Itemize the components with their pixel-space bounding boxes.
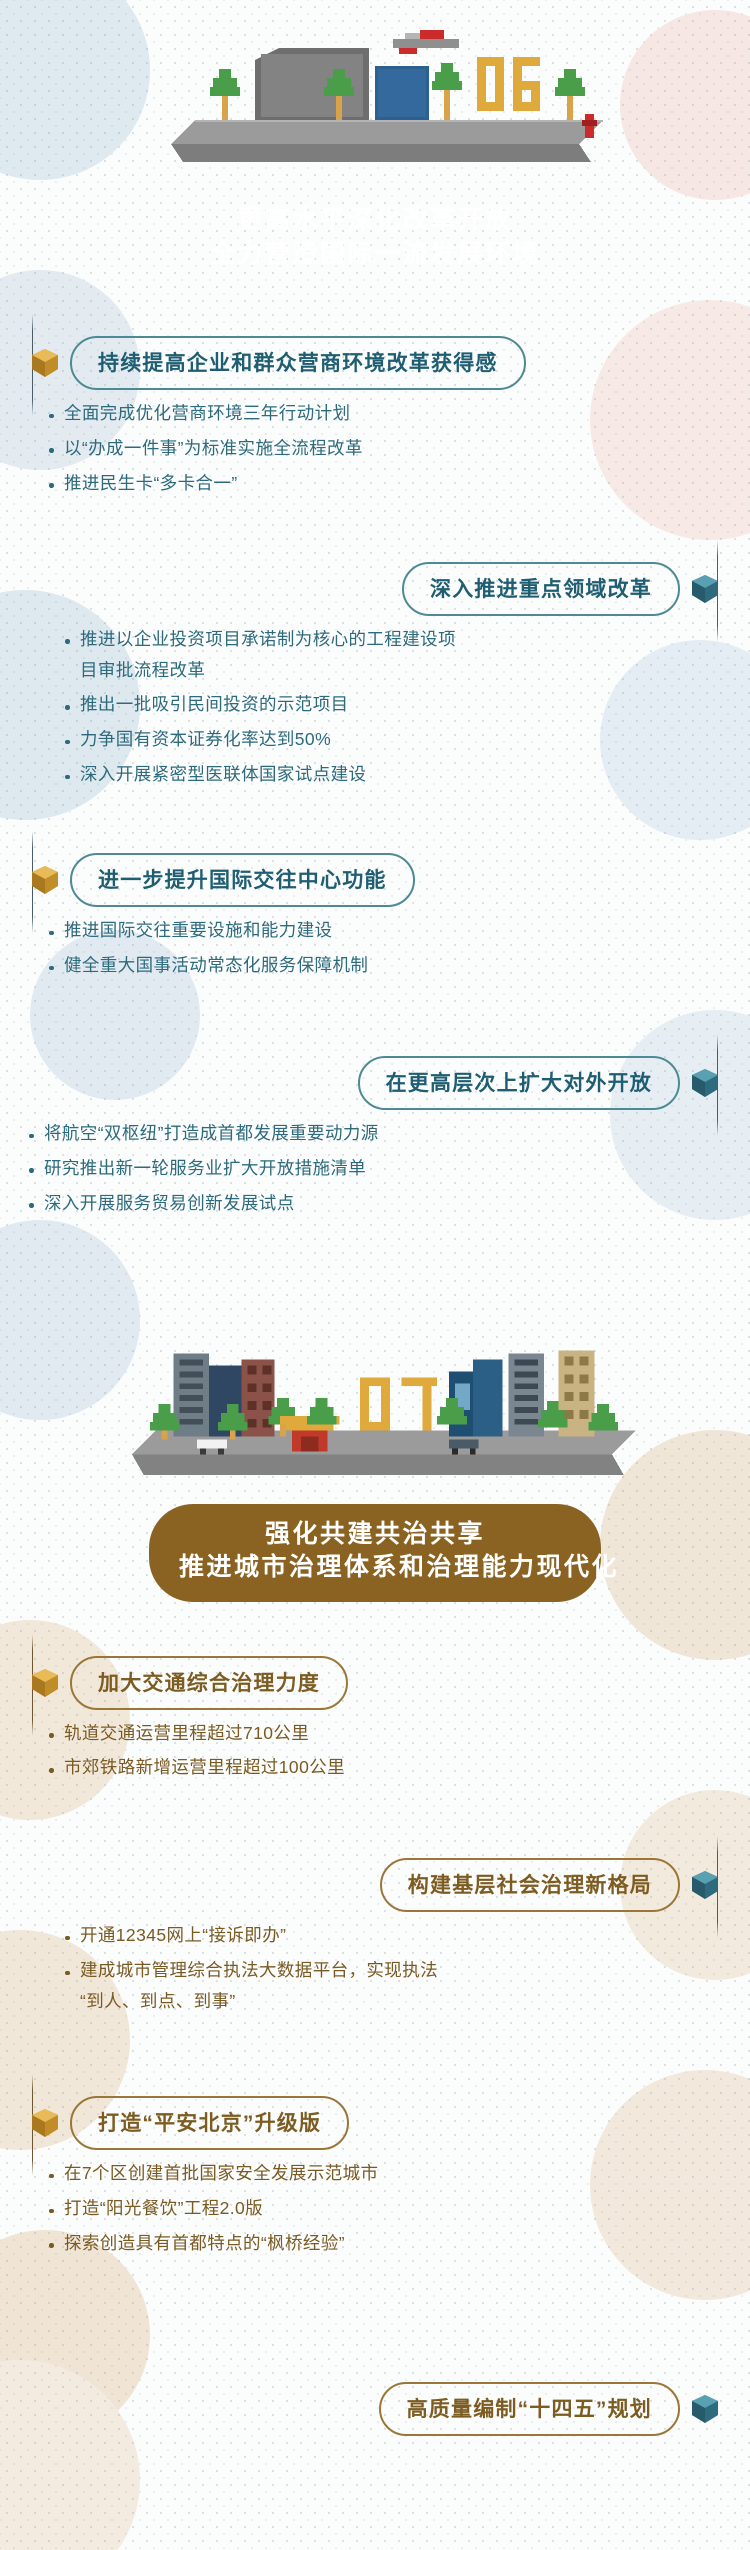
bullet-item-continuation: 目审批流程改革	[64, 658, 710, 684]
chapter-number-06	[477, 57, 540, 111]
teal-cube-icon	[690, 1067, 720, 1099]
bullet-item: 建成城市管理综合执法大数据平台，实现执法	[64, 1958, 710, 1984]
teal-cube-icon	[690, 1869, 720, 1901]
section-06-4-bullets: 将航空“双枢纽”打造成首都发展重要动力源 研究推出新一轮服务业扩大开放措施清单 …	[0, 1110, 750, 1217]
bullet-item: 打造“阳光餐饮”工程2.0版	[48, 2196, 710, 2222]
section-06-3-title[interactable]: 进一步提升国际交往中心功能	[70, 853, 415, 907]
section-06-2-title[interactable]: 深入推进重点领域改革	[402, 562, 680, 616]
section-07-4: 高质量编制“十四五”规划	[0, 2382, 750, 2436]
section-06-4-title[interactable]: 在更高层次上扩大对外开放	[358, 1056, 680, 1110]
section-07-1: 加大交通综合治理力度 轨道交通运营里程超过710公里 市郊铁路新增运营里程超过1…	[0, 1656, 750, 1817]
section-06-3: 进一步提升国际交往中心功能 推进国际交往重要设施和能力建设 健全重大国事活动常态…	[0, 853, 750, 1014]
section-06-1-title[interactable]: 持续提高企业和群众营商环境改革获得感	[70, 336, 526, 390]
bullet-item: 探索创造具有首都特点的“枫桥经验”	[48, 2231, 710, 2257]
section-07-4-title-row: 高质量编制“十四五”规划	[0, 2382, 750, 2436]
bullet-item: 在7个区创建首批国家安全发展示范城市	[48, 2161, 710, 2187]
chapter-07-pixel-art-header	[0, 1324, 750, 1504]
bullet-item: 推进民生卡“多卡合一”	[48, 471, 710, 497]
section-06-3-bullets: 推进国际交往重要设施和能力建设 健全重大国事活动常态化服务保障机制	[0, 907, 750, 979]
rail-line	[717, 540, 718, 642]
chapter-07-banner-line1: 强化共建共治共享	[179, 1518, 571, 1552]
section-06-2: 深入推进重点领域改革 推进以企业投资项目承诺制为核心的工程建设项 目审批流程改革…	[0, 562, 750, 823]
bullet-item: 将航空“双枢纽”打造成首都发展重要动力源	[28, 1121, 710, 1147]
bullet-item: 推进国际交往重要设施和能力建设	[48, 918, 710, 944]
chapter-06-banner-line2: 全力营造国际一流发展环境	[195, 238, 555, 272]
section-07-1-title-row: 加大交通综合治理力度	[0, 1656, 750, 1710]
bullet-item: 以“办成一件事”为标准实施全流程改革	[48, 436, 710, 462]
teal-cube-icon	[690, 573, 720, 605]
section-07-1-bullets: 轨道交通运营里程超过710公里 市郊铁路新增运营里程超过100公里	[0, 1710, 750, 1782]
rail-line	[717, 1034, 718, 1136]
section-07-2: 构建基层社会治理新格局 开通12345网上“接诉即办” 建成城市管理综合执法大数…	[0, 1858, 750, 2050]
teal-cube-icon	[690, 2393, 720, 2425]
chapter-06-banner: 更高水平深化改革开放 全力营造国际一流发展环境	[165, 190, 585, 288]
chapter-06-banner-line1: 更高水平深化改革开放	[195, 204, 555, 238]
chapter-07-banner-line2: 推进城市治理体系和治理能力现代化	[179, 1551, 571, 1585]
pixel-plane-grey	[393, 30, 459, 54]
bullet-item: 深入开展服务贸易创新发展试点	[28, 1191, 710, 1217]
section-07-3-bullets: 在7个区创建首批国家安全发展示范城市 打造“阳光餐饮”工程2.0版 探索创造具有…	[0, 2150, 750, 2257]
bullet-item: 市郊铁路新增运营里程超过100公里	[48, 1755, 710, 1781]
section-07-2-title[interactable]: 构建基层社会治理新格局	[380, 1858, 680, 1912]
bullet-item: 力争国有资本证券化率达到50%	[64, 727, 710, 753]
pixel-city-illustration	[110, 1324, 640, 1484]
section-06-4: 在更高层次上扩大对外开放 将航空“双枢纽”打造成首都发展重要动力源 研究推出新一…	[0, 1056, 750, 1252]
chapter-07-banner: 强化共建共治共享 推进城市治理体系和治理能力现代化	[149, 1504, 601, 1602]
gold-cube-icon	[30, 1667, 60, 1699]
bullet-item-continuation: “到人、到点、到事”	[64, 1989, 710, 2015]
section-07-2-title-row: 构建基层社会治理新格局	[0, 1858, 750, 1912]
section-06-1: 持续提高企业和群众营商环境改革获得感 全面完成优化营商环境三年行动计划 以“办成…	[0, 336, 750, 532]
section-06-2-bullets: 推进以企业投资项目承诺制为核心的工程建设项 目审批流程改革 推出一批吸引民间投资…	[0, 616, 750, 788]
rail-line	[717, 1836, 718, 1938]
bullet-item: 轨道交通运营里程超过710公里	[48, 1721, 710, 1747]
section-07-3-title[interactable]: 打造“平安北京”升级版	[70, 2096, 349, 2150]
gold-cube-icon	[30, 2107, 60, 2139]
infographic-page: 更高水平深化改革开放 全力营造国际一流发展环境 持续提高企业和群众营商环境改革获…	[0, 0, 750, 2436]
section-06-4-title-row: 在更高层次上扩大对外开放	[0, 1056, 750, 1110]
section-06-1-bullets: 全面完成优化营商环境三年行动计划 以“办成一件事”为标准实施全流程改革 推进民生…	[0, 390, 750, 497]
section-06-3-title-row: 进一步提升国际交往中心功能	[0, 853, 750, 907]
section-07-1-title[interactable]: 加大交通综合治理力度	[70, 1656, 348, 1710]
bullet-item: 全面完成优化营商环境三年行动计划	[48, 401, 710, 427]
bullet-item: 健全重大国事活动常态化服务保障机制	[48, 953, 710, 979]
bullet-item: 深入开展紧密型医联体国家试点建设	[64, 762, 710, 788]
pixel-bridge-illustration	[135, 30, 615, 180]
bullet-item: 开通12345网上“接诉即办”	[64, 1923, 710, 1949]
gold-cube-icon	[30, 347, 60, 379]
bullet-item: 推进以企业投资项目承诺制为核心的工程建设项	[64, 627, 710, 653]
bullet-item: 研究推出新一轮服务业扩大开放措施清单	[28, 1156, 710, 1182]
chapter-06-pixel-art-header	[0, 0, 750, 190]
gold-cube-icon	[30, 864, 60, 896]
section-07-3-title-row: 打造“平安北京”升级版	[0, 2096, 750, 2150]
section-07-4-title[interactable]: 高质量编制“十四五”规划	[379, 2382, 680, 2436]
section-07-3: 打造“平安北京”升级版 在7个区创建首批国家安全发展示范城市 打造“阳光餐饮”工…	[0, 2096, 750, 2292]
bullet-item: 推出一批吸引民间投资的示范项目	[64, 692, 710, 718]
section-06-1-title-row: 持续提高企业和群众营商环境改革获得感	[0, 336, 750, 390]
section-07-2-bullets: 开通12345网上“接诉即办” 建成城市管理综合执法大数据平台，实现执法 “到人…	[0, 1912, 750, 2015]
section-06-2-title-row: 深入推进重点领域改革	[0, 562, 750, 616]
chapter-number-07	[360, 1377, 437, 1430]
